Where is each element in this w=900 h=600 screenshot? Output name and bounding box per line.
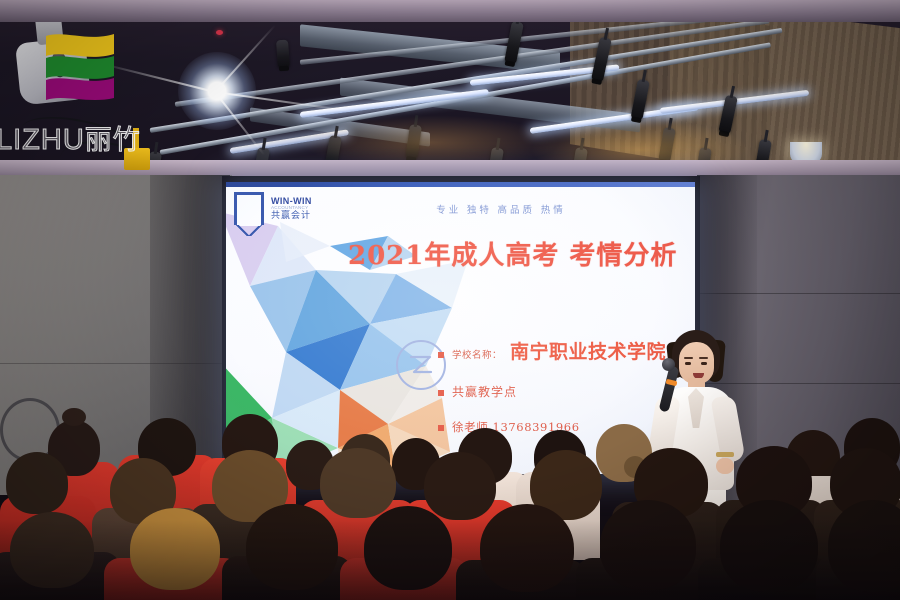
audience-head <box>720 500 818 592</box>
slide-logo-name-cjk: 共赢会计 <box>271 211 312 220</box>
watermark-brand-cjk: 丽竹 <box>85 125 141 155</box>
win-win-bookmark-icon <box>234 192 264 225</box>
watermark: LIZHU丽竹 <box>0 18 200 148</box>
slide-logo: WIN-WIN ACCOUNTANCY 共赢会计 <box>234 192 312 225</box>
watermark-brand-latin: LIZHU <box>0 124 85 156</box>
audience-head <box>6 452 68 514</box>
bullet-value: 共赢教学点 <box>452 383 517 400</box>
bullet-label: 学校名称： <box>452 347 502 361</box>
audience-head <box>600 500 696 590</box>
presentation-photo: WIN-WIN ACCOUNTANCY 共赢会计 专业 独特 高品质 热情 20… <box>0 0 900 600</box>
track-spotlight <box>276 40 290 69</box>
lens-flare-ray <box>214 24 276 92</box>
audience-head <box>424 452 496 520</box>
slide-top-bar <box>226 182 695 187</box>
watermark-text: LIZHU丽竹 <box>0 118 141 157</box>
slide-tagline: 专业 独特 高品质 热情 <box>386 202 616 216</box>
lizhu-flag-logo-icon <box>44 30 116 104</box>
audience-head <box>10 512 94 588</box>
slide-title: 2021年成人高考 考情分析 <box>348 235 693 272</box>
audience-head <box>364 506 452 590</box>
audience-head <box>130 508 220 590</box>
audience <box>0 400 900 600</box>
bullet-square-icon <box>438 352 444 358</box>
bullet-square-icon <box>438 390 444 396</box>
audience-hair-bun <box>62 408 86 426</box>
audience-head <box>246 504 338 590</box>
indicator-light <box>216 30 223 35</box>
audience-head <box>480 504 574 592</box>
audience-head <box>320 448 396 518</box>
